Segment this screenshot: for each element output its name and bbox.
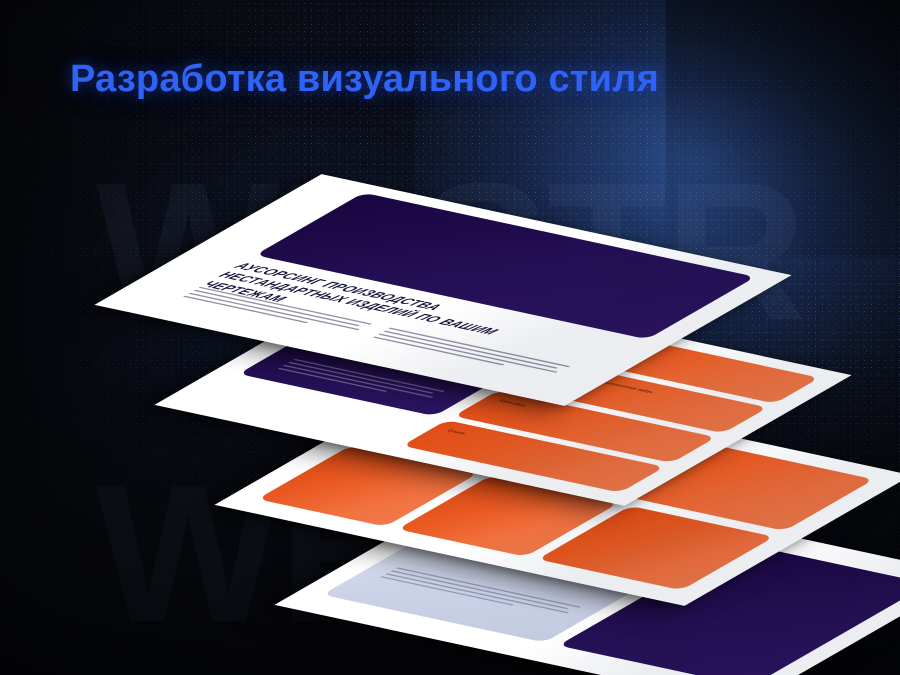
slide-deck-stack: ПРЕИМУЩЕСТВА НАШЕЙ КОМПАНИИ Цена Высокая…: [0, 0, 900, 675]
presentation-slide-canvas: WBSTR WBSTR Разработка визуального стиля: [0, 0, 900, 675]
